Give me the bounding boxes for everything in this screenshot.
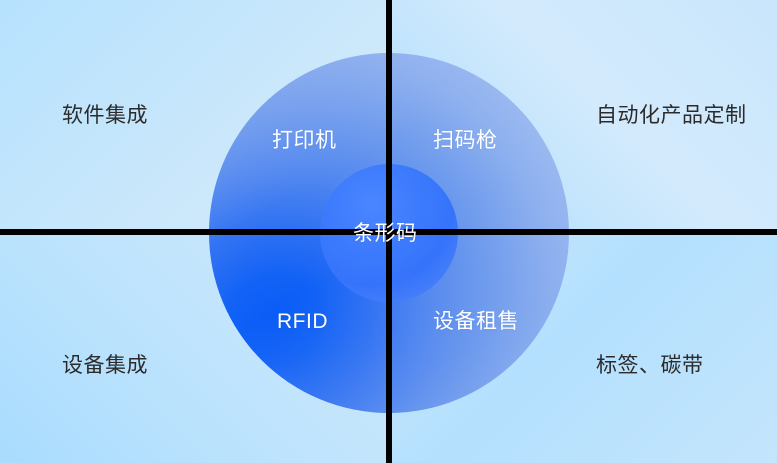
outer-label-automation-product-customization: 自动化产品定制 xyxy=(596,105,747,126)
diagram-canvas: 软件集成 自动化产品定制 设备集成 标签、碳带 打印机 扫码枪 RFID 设备租… xyxy=(0,0,777,463)
ring-label-rfid: RFID xyxy=(277,311,328,332)
center-label-barcode: 条形码 xyxy=(353,223,418,244)
outer-label-labels-ribbons: 标签、碳带 xyxy=(596,355,704,376)
ring-label-scanner: 扫码枪 xyxy=(433,130,498,151)
ring-label-equipment-rental: 设备租售 xyxy=(433,311,519,332)
outer-label-software-integration: 软件集成 xyxy=(62,105,148,126)
ring-label-printer: 打印机 xyxy=(272,130,337,151)
outer-label-device-integration: 设备集成 xyxy=(62,355,148,376)
